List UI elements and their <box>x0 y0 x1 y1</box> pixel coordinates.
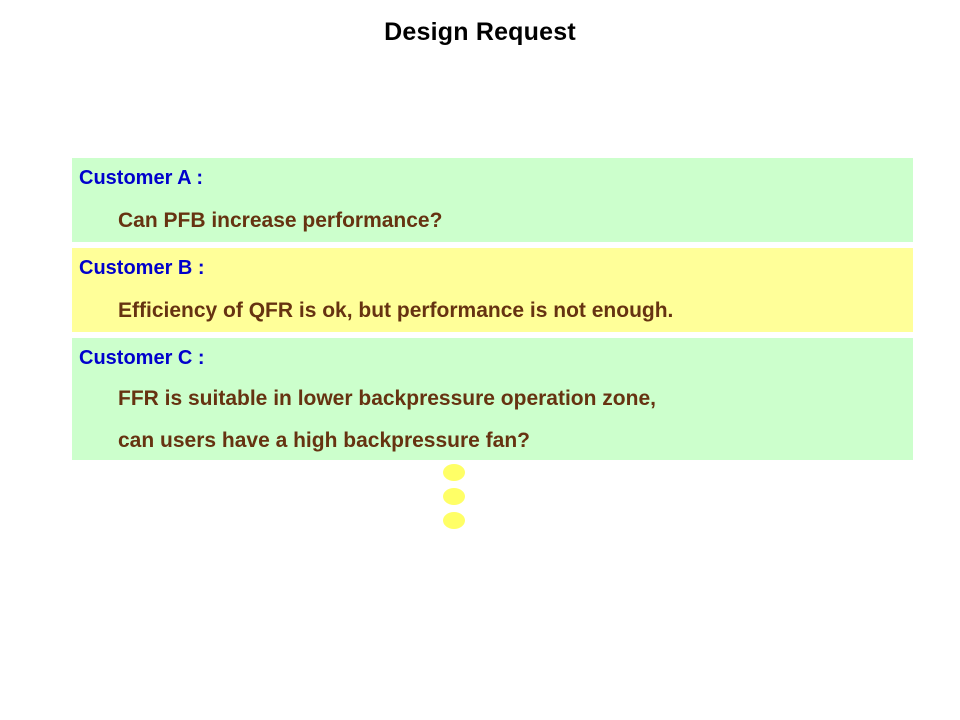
request-block-customer-c: Customer C : FFR is suitable in lower ba… <box>72 338 913 460</box>
vertical-ellipsis-icon <box>443 464 467 536</box>
statement-customer-b-line-1: Efficiency of QFR is ok, but performance… <box>118 298 673 324</box>
slide-canvas: Design Request Customer A : Can PFB incr… <box>0 0 960 720</box>
ellipsis-dot-3 <box>443 512 465 529</box>
ellipsis-dot-2 <box>443 488 465 505</box>
page-title: Design Request <box>0 18 960 47</box>
speaker-label-customer-b: Customer B : <box>79 256 205 280</box>
request-block-customer-a: Customer A : Can PFB increase performanc… <box>72 158 913 242</box>
request-block-customer-b: Customer B : Efficiency of QFR is ok, bu… <box>72 248 913 332</box>
statement-customer-c-line-1: FFR is suitable in lower backpressure op… <box>118 386 656 412</box>
ellipsis-dot-1 <box>443 464 465 481</box>
statement-customer-a-line-1: Can PFB increase performance? <box>118 208 442 234</box>
statement-customer-c-line-2: can users have a high backpressure fan? <box>118 428 530 454</box>
speaker-label-customer-c: Customer C : <box>79 346 205 370</box>
speaker-label-customer-a: Customer A : <box>79 166 203 190</box>
